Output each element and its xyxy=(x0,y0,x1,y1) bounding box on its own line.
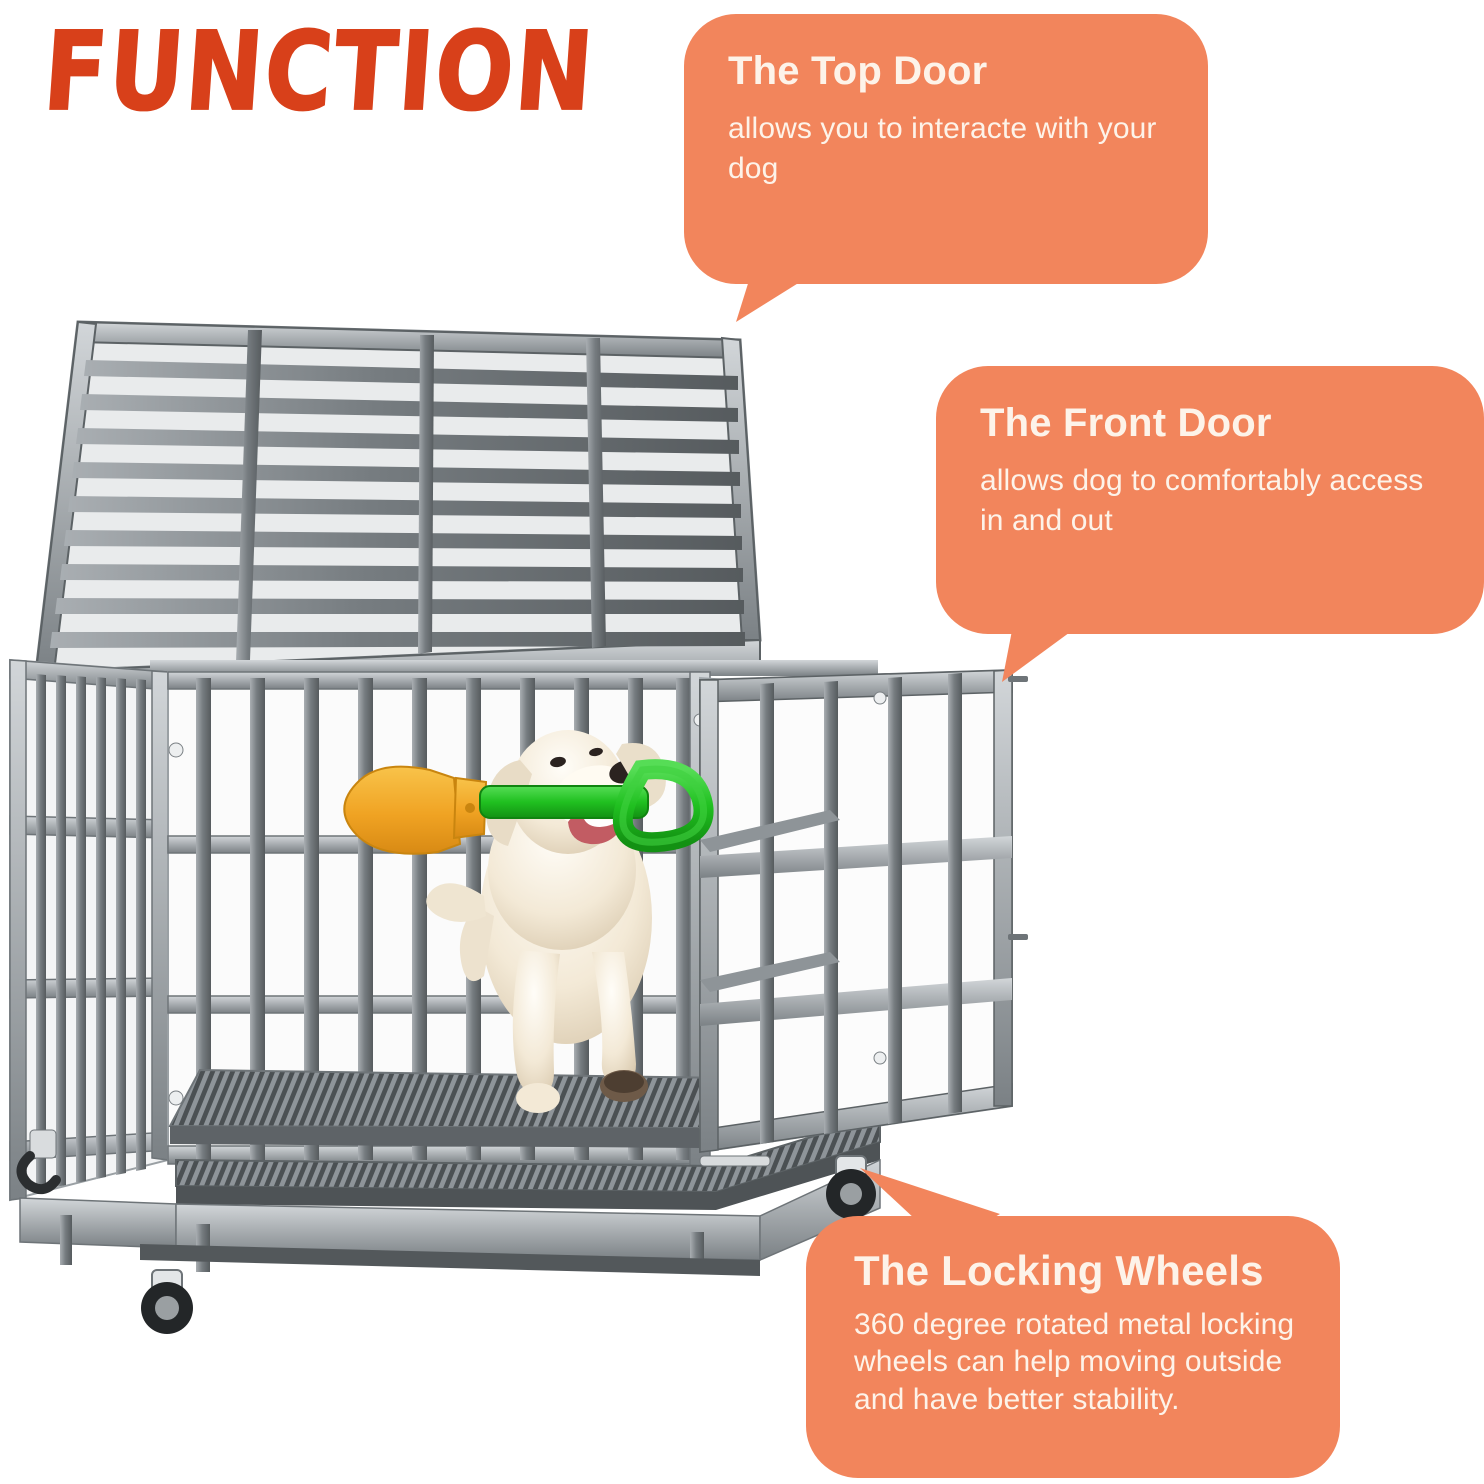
infographic-page: FUNCTION xyxy=(0,0,1484,1484)
callout-top-door-body: allows you to interacte with your dog xyxy=(728,109,1168,188)
callout-front-door: The Front Door allows dog to comfortably… xyxy=(936,366,1484,634)
callout-locking-wheels: The Locking Wheels 360 degree rotated me… xyxy=(806,1216,1340,1478)
shovel-toy xyxy=(330,740,730,870)
callout-locking-wheels-title: The Locking Wheels xyxy=(854,1246,1304,1296)
callout-front-door-title: The Front Door xyxy=(980,400,1444,447)
callout-top-door: The Top Door allows you to interacte wit… xyxy=(684,14,1208,284)
callout-top-door-title: The Top Door xyxy=(728,48,1168,95)
callout-front-door-body: allows dog to comfortably access in and … xyxy=(980,461,1444,540)
callout-locking-wheels-body: 360 degree rotated metal locking wheels … xyxy=(854,1306,1304,1419)
left-side-panel xyxy=(10,660,168,1200)
page-title: FUNCTION xyxy=(39,18,588,148)
top-lid-panel xyxy=(36,322,760,694)
